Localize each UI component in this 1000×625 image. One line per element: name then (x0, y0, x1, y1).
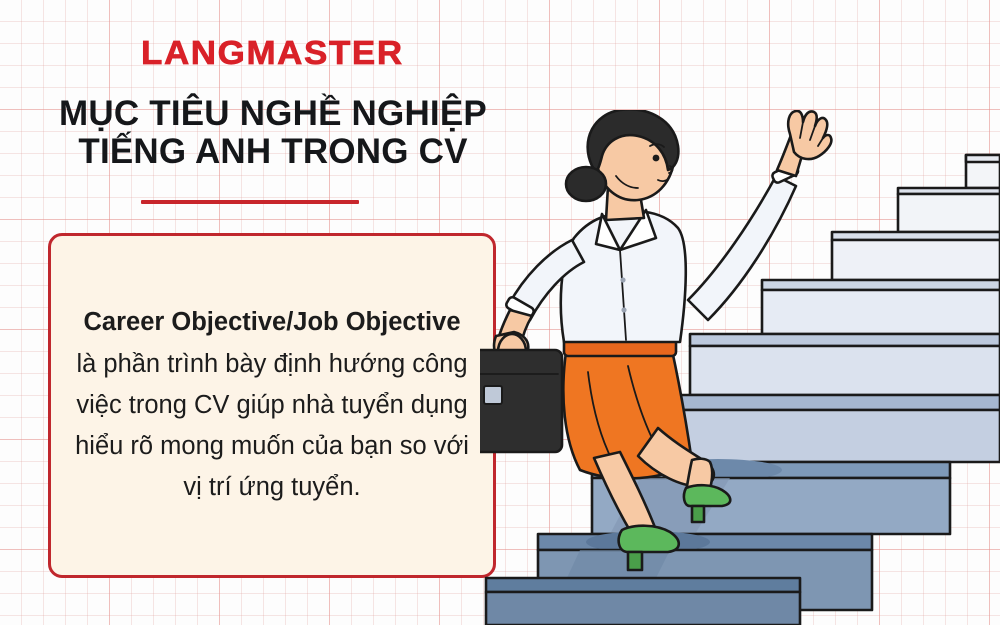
raised-hand (788, 111, 831, 159)
poster-canvas: LANGMASTER MỤC TIÊU NGHỀ NGHIỆP TIẾNG AN… (0, 0, 1000, 625)
hair-bun (566, 167, 606, 201)
briefcase-clasp (484, 386, 502, 404)
definition-card: Career Objective/Job Objective là phần t… (48, 233, 496, 578)
stair-step-7 (898, 188, 1000, 232)
stair-step-5 (762, 280, 1000, 334)
illustration-businesswoman-stairs: .ol{stroke:#1a1a1a;stroke-width:2.6;stro… (480, 110, 1000, 625)
title-divider (141, 200, 359, 204)
definition-card-text: Career Objective/Job Objective là phần t… (72, 302, 472, 508)
page-title-line-1: MỤC TIÊU NGHỀ NGHIỆP (59, 94, 487, 133)
briefcase (480, 334, 562, 452)
stair-step-0 (486, 578, 800, 625)
langmaster-logo: LANGMASTER (141, 36, 404, 69)
page-title-line-2: TIẾNG ANH TRONG CV (0, 133, 546, 171)
page-title: MỤC TIÊU NGHỀ NGHIỆP TIẾNG ANH TRONG CV (0, 95, 546, 171)
stair-step-6 (832, 232, 1000, 280)
definition-term: Career Objective/Job Objective (84, 308, 461, 336)
stair-step-4 (690, 334, 1000, 395)
definition-body: là phần trình bày định hướng công việc t… (75, 350, 469, 502)
eye (653, 155, 660, 162)
stair-step-8 (966, 155, 1000, 188)
blouse (561, 211, 686, 342)
